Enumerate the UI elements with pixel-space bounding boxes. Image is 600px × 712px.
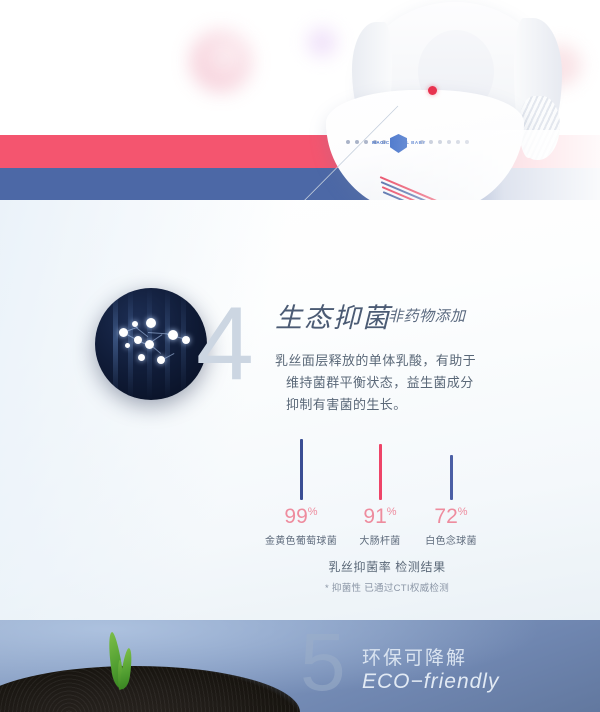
hotspot-marker-icon <box>428 86 437 95</box>
chart-bar-1 <box>379 444 382 500</box>
eco-title-en: ECO−friendly <box>362 670 499 694</box>
feature-number: 4 <box>196 292 254 396</box>
feature-body-line-3: 抑制有害菌的生长。 <box>275 394 575 416</box>
feature-title: 生态抑菌 <box>275 296 391 335</box>
eco-title-cn: 环保可降解 <box>362 643 467 670</box>
chart-certification-note: * 抑菌性 已通过CTI权威检测 <box>272 580 502 594</box>
feature-body-line-2: 维持菌群平衡状态，益生菌成分 <box>275 372 575 394</box>
band-fade-overlay <box>360 130 600 205</box>
antibacterial-rate-chart: 99% 金黄色葡萄球菌 91% 大肠杆菌 72% 白色念球菌 <box>272 432 502 547</box>
feature-body-text: 乳丝面层释放的单体乳酸，有助于 维持菌群平衡状态，益生菌成分 抑制有害菌的生长。 <box>275 350 575 416</box>
feature-body-line-1: 乳丝面层释放的单体乳酸，有助于 <box>275 350 575 372</box>
chart-label-2: 白色念球菌 <box>396 532 506 547</box>
chart-bar-2 <box>450 455 453 500</box>
product-detail-page: MAGIC ANGEL BABY <box>0 0 600 712</box>
eco-number: 5 <box>300 622 346 704</box>
molecule-icon <box>95 288 207 400</box>
chart-bar-0 <box>300 439 303 500</box>
seedling-icon <box>98 628 144 690</box>
chart-value-2: 72% <box>406 505 496 529</box>
chart-caption: 乳丝抑菌率 检测结果 <box>272 558 502 575</box>
chart-value-0: 99% <box>256 505 346 529</box>
decorative-blob-pink-large <box>190 30 252 92</box>
feature-subtitle: 非药物添加 <box>388 305 466 326</box>
